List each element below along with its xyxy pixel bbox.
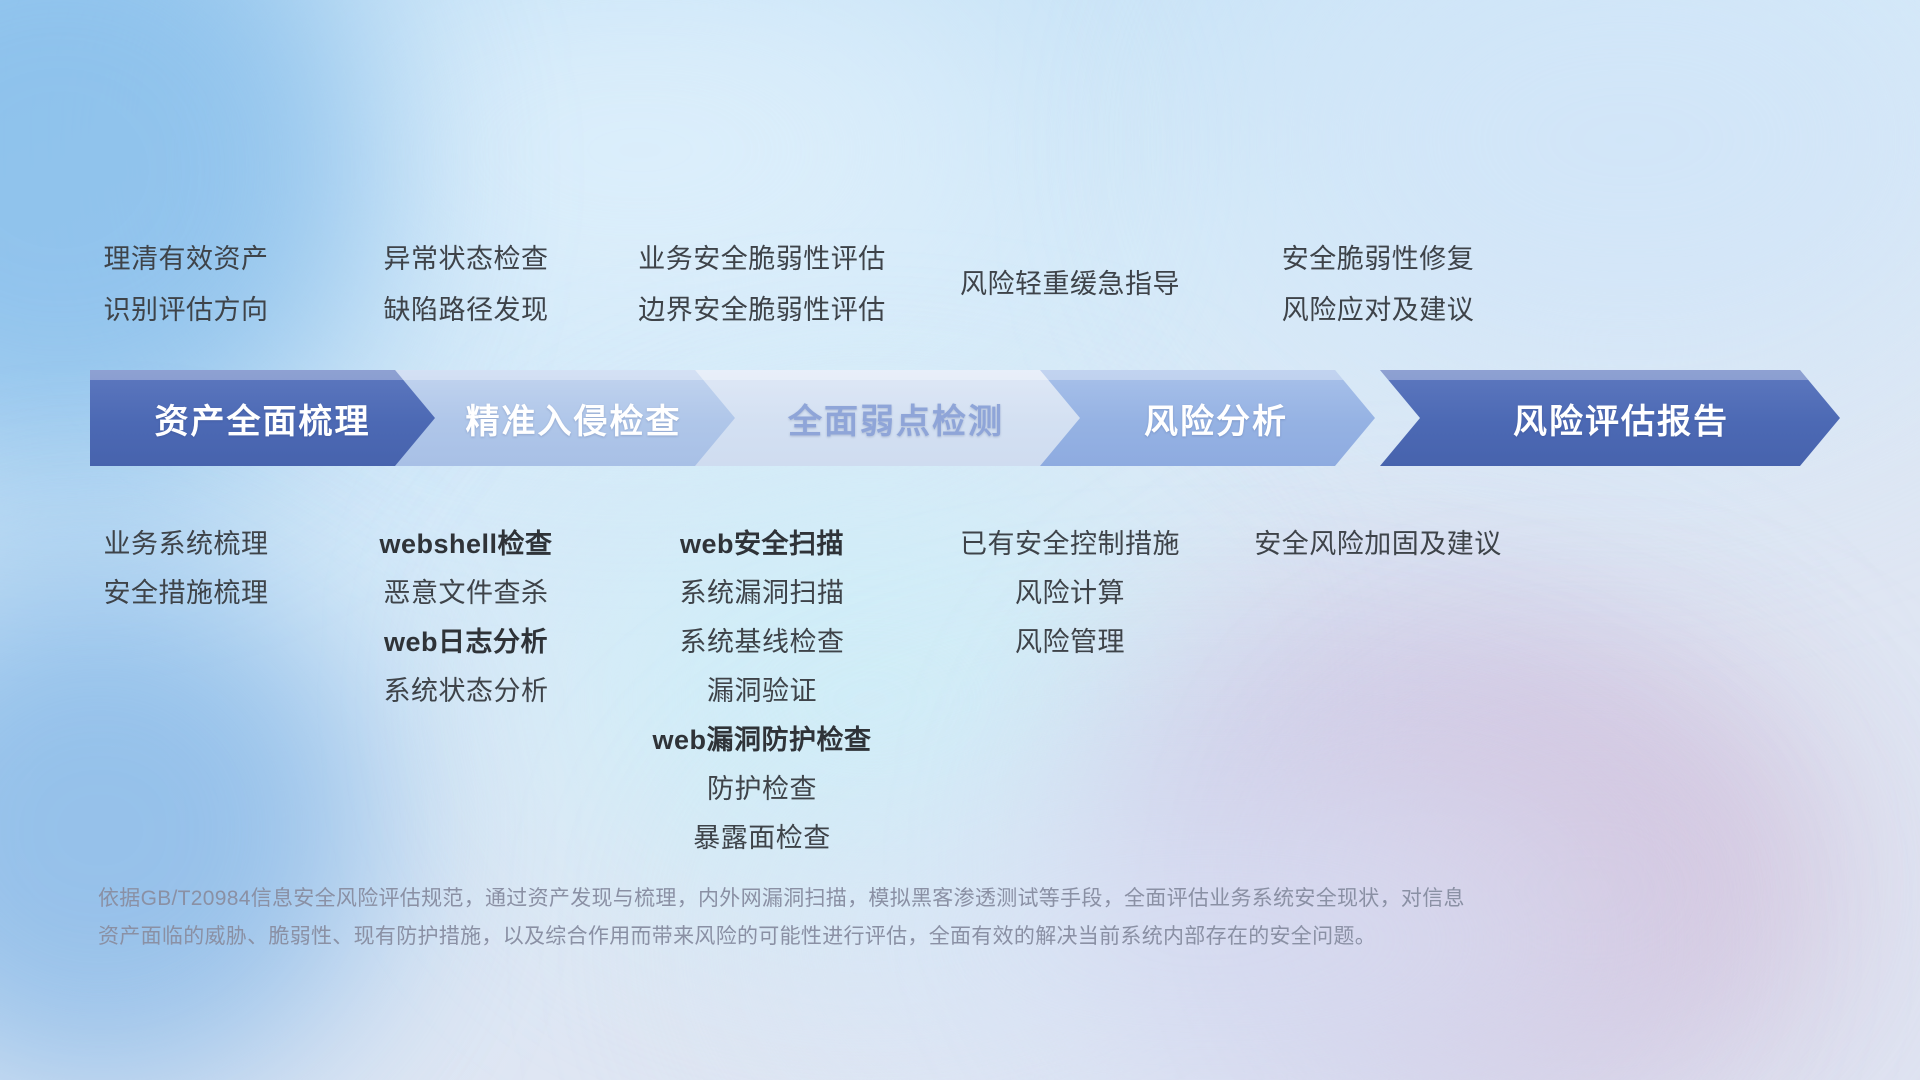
footer-line-1: 依据GB/T20984信息安全风险评估规范，通过资产发现与梳理，内外网漏洞扫描，… [98, 880, 1658, 918]
activity-column-weakness-detection: web安全扫描系统漏洞扫描系统基线检查漏洞验证web漏洞防护检查防护检查暴露面检… [582, 520, 942, 863]
process-step-label: 风险分析 [1144, 394, 1288, 443]
outcome-item: 安全脆弱性修复 [1282, 234, 1475, 285]
process-step-asset-inventory[interactable]: 资产全面梳理 [90, 370, 435, 466]
activity-item: 安全措施梳理 [104, 569, 269, 618]
activity-column-risk-analysis: 已有安全控制措施风险计算风险管理 [890, 520, 1250, 667]
outcome-item: 风险轻重缓急指导 [960, 259, 1180, 310]
outcome-column-risk-analysis: 风险轻重缓急指导 [890, 259, 1250, 310]
chevron-highlight [1380, 370, 1840, 380]
outcome-column-assessment-report: 安全脆弱性修复风险应对及建议 [1198, 234, 1558, 336]
process-step-weakness-detection[interactable]: 全面弱点检测 [690, 370, 1080, 466]
chevron-highlight [1035, 370, 1375, 380]
process-step-intrusion-check[interactable]: 精准入侵检查 [390, 370, 735, 466]
slide-canvas: 理清有效资产识别评估方向异常状态检查缺陷路径发现业务安全脆弱性评估边界安全脆弱性… [0, 0, 1920, 1080]
activity-item: web日志分析 [384, 618, 548, 667]
outcome-item: 异常状态检查 [384, 234, 549, 285]
activity-item: 业务系统梳理 [104, 520, 269, 569]
activity-item: 恶意文件查杀 [384, 569, 549, 618]
activity-item: 防护检查 [707, 765, 817, 814]
outcome-item: 业务安全脆弱性评估 [638, 234, 886, 285]
activity-item: webshell检查 [379, 520, 552, 569]
outcome-column-weakness-detection: 业务安全脆弱性评估边界安全脆弱性评估 [582, 234, 942, 336]
chevron-highlight [90, 370, 435, 380]
activity-item: web漏洞防护检查 [652, 716, 871, 765]
process-step-label: 精准入侵检查 [466, 394, 682, 443]
activity-item: 安全风险加固及建议 [1254, 520, 1502, 569]
process-step-label: 全面弱点检测 [788, 394, 1004, 443]
outcome-item: 理清有效资产 [104, 234, 269, 285]
outcome-item: 风险应对及建议 [1282, 285, 1475, 336]
activity-item: 风险计算 [1015, 569, 1125, 618]
process-step-label: 风险评估报告 [1513, 394, 1729, 443]
activity-item: 系统漏洞扫描 [680, 569, 845, 618]
activity-item: 已有安全控制措施 [960, 520, 1180, 569]
activity-column-assessment-report: 安全风险加固及建议 [1198, 520, 1558, 569]
footer-description: 依据GB/T20984信息安全风险评估规范，通过资产发现与梳理，内外网漏洞扫描，… [98, 880, 1658, 956]
footer-line-2: 资产面临的威胁、脆弱性、现有防护措施，以及综合作用而带来风险的可能性进行评估，全… [98, 918, 1658, 956]
activity-item: web安全扫描 [680, 520, 844, 569]
activity-item: 系统基线检查 [680, 618, 845, 667]
process-chevron-band: 资产全面梳理精准入侵检查全面弱点检测风险分析风险评估报告 [90, 370, 1840, 466]
outcome-item: 缺陷路径发现 [384, 285, 549, 336]
activity-item: 系统状态分析 [384, 667, 549, 716]
process-step-label: 资产全面梳理 [155, 394, 371, 443]
activity-item: 漏洞验证 [707, 667, 817, 716]
activity-item: 暴露面检查 [693, 814, 831, 863]
chevron-highlight [690, 370, 1080, 380]
process-step-risk-analysis[interactable]: 风险分析 [1035, 370, 1375, 466]
activity-item: 风险管理 [1015, 618, 1125, 667]
chevron-highlight [390, 370, 735, 380]
outcome-item: 边界安全脆弱性评估 [638, 285, 886, 336]
outcome-item: 识别评估方向 [104, 285, 269, 336]
background-blob-white-top-right [1250, 0, 1920, 400]
process-step-assessment-report[interactable]: 风险评估报告 [1380, 370, 1840, 466]
background-blob-lavender-right [1080, 600, 1780, 1080]
